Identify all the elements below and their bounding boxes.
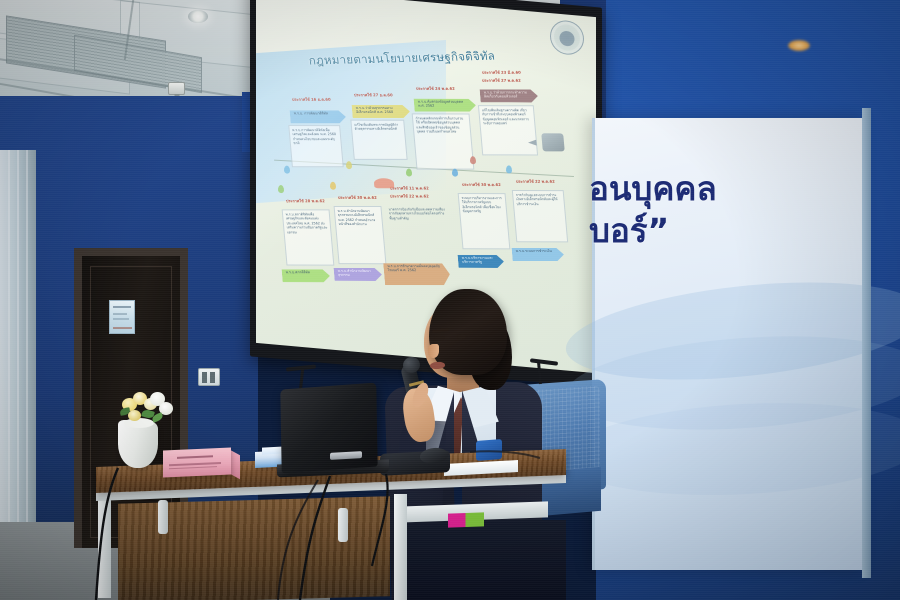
ceiling-sensor-icon <box>168 82 185 95</box>
vase-rim <box>124 418 154 428</box>
ceiling-light-reflection <box>788 40 810 51</box>
laptop[interactable] <box>280 383 377 474</box>
nose <box>428 344 439 358</box>
name-plate <box>163 448 231 478</box>
flower <box>128 410 141 421</box>
downlight-icon <box>188 10 208 23</box>
shelf-item <box>448 512 484 527</box>
screen-canvas: กฎหมายตามนโยบายเศรษฐกิจดิจิทัล ประกาศใช้… <box>256 0 596 373</box>
desk-bracket <box>338 508 348 542</box>
door-notice-sign <box>109 300 135 334</box>
photograph-scene: กฎหมายตามนโยบายเศรษฐกิจดิจิทัล ประกาศใช้… <box>0 0 900 600</box>
banner-line-2: บอร์” <box>589 204 669 257</box>
screen-glare <box>256 0 596 373</box>
blue-object <box>476 439 502 461</box>
light-switch-panel[interactable] <box>198 368 220 386</box>
banner-edge <box>862 108 871 578</box>
desk-leg <box>394 494 407 600</box>
window-sheer-curtain <box>0 150 36 580</box>
desk-bracket <box>158 500 168 534</box>
desk-leg <box>98 486 111 598</box>
desk-shadow-area <box>400 520 566 600</box>
backdrop-banner: อนบุคคล บอร์” <box>592 118 866 570</box>
